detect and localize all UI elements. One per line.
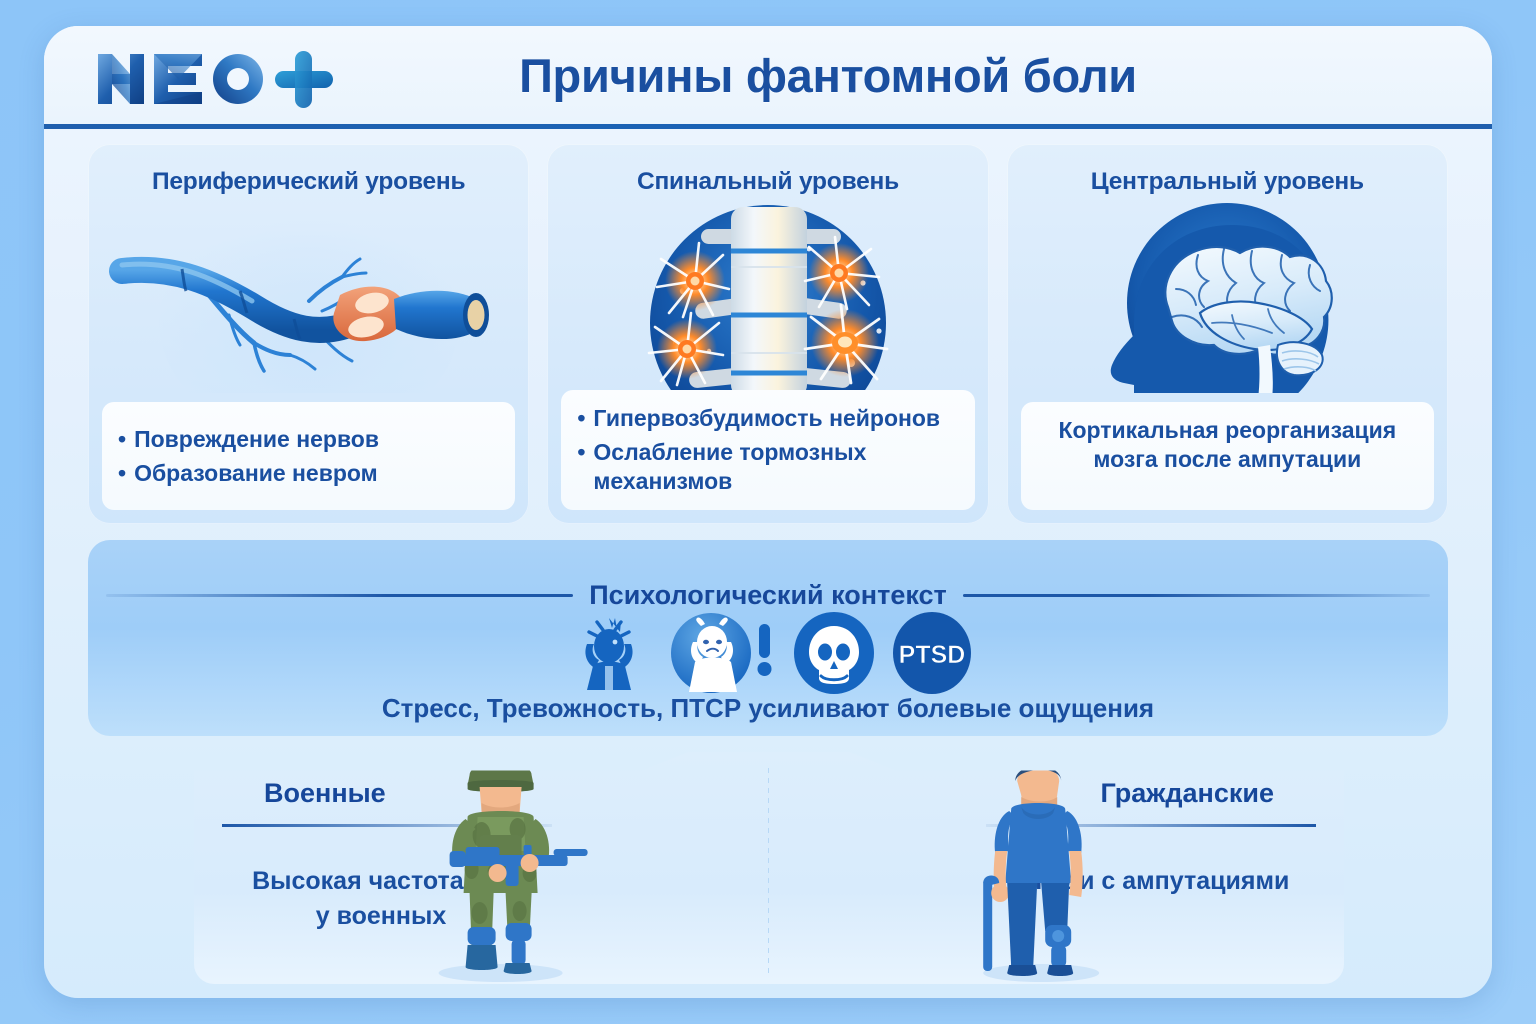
psychological-context-panel: Психологический контекст [88, 540, 1448, 736]
bullet-dot: • [118, 459, 126, 488]
bullet-text: Кортикальная реорганизация мозга после а… [1058, 417, 1396, 472]
ptsd-badge-icon: PTSD [891, 612, 973, 694]
bullet-box-spinal: •Гипервозбудимость нейронов •Ослабление … [561, 390, 974, 510]
list-item: •Повреждение нервов [112, 425, 505, 454]
levels-columns: Периферический уровень [88, 144, 1448, 524]
damaged-nerve-neuroma-illustration [88, 198, 529, 398]
brain-head-silhouette-illustration [1007, 198, 1448, 398]
card-title-spinal: Спинальный уровень [547, 144, 988, 196]
card-title-central: Центральный уровень [1007, 144, 1448, 196]
stressed-person-icon [563, 612, 655, 694]
heading-rule-left [106, 594, 573, 597]
bullet-text: Гипервозбудимость нейронов [593, 404, 940, 433]
bullet-box-peripheral: •Повреждение нервов •Образование невром [102, 402, 515, 510]
bullet-text: Образование невром [134, 459, 378, 488]
bullet-text: Повреждение нервов [134, 425, 379, 454]
panel-military[interactable]: Военные Высокая частота ФБ у военных [194, 752, 769, 984]
list-item: •Гипервозбудимость нейронов [571, 404, 964, 433]
group-title-civilian: Гражданские [1100, 778, 1274, 809]
page-title: Причины фантомной боли [44, 26, 1492, 124]
list-item: •Ослабление тормозных механизмов [571, 438, 964, 496]
spinal-cord-neurons-illustration [547, 198, 988, 398]
psychological-title: Психологический контекст [589, 580, 946, 611]
psychological-caption: Стресс, Тревожность, ПТСР усиливают боле… [88, 693, 1448, 724]
anxious-person-exclamation-icon [671, 612, 777, 694]
heading-rule-right [963, 594, 1430, 597]
infographic-poster: Причины фантомной боли Периферический ур… [44, 26, 1492, 998]
poster-header: Причины фантомной боли [44, 26, 1492, 124]
header-divider [44, 124, 1492, 129]
population-groups: Военные Высокая частота ФБ у военных [194, 752, 1344, 984]
ptsd-badge-label: PTSD [899, 641, 966, 669]
skull-fear-icon [793, 612, 875, 694]
list-item: Кортикальная реорганизация мозга после а… [1031, 416, 1424, 474]
civilian-amputee-with-cane-illustration [953, 751, 1123, 988]
card-spinal-level[interactable]: Спинальный уровень [547, 144, 988, 524]
card-title-peripheral: Периферический уровень [88, 144, 529, 196]
bullet-dot: • [118, 425, 126, 454]
psychological-icons-row: PTSD [88, 612, 1448, 694]
bullet-text: Ослабление тормозных механизмов [593, 438, 964, 496]
card-central-level[interactable]: Центральный уровень [1007, 144, 1448, 524]
soldier-with-prosthetic-leg-illustration [406, 751, 596, 988]
bullet-box-central: Кортикальная реорганизация мозга после а… [1021, 402, 1434, 510]
panel-civilian[interactable]: Гражданские Люди с ампутациями [769, 752, 1344, 984]
psychological-heading-row: Психологический контекст [88, 580, 1448, 611]
bullet-dot: • [577, 404, 585, 433]
bullet-dot: • [577, 438, 585, 496]
list-item: •Образование невром [112, 459, 505, 488]
group-title-military: Военные [264, 778, 386, 809]
card-peripheral-level[interactable]: Периферический уровень [88, 144, 529, 524]
